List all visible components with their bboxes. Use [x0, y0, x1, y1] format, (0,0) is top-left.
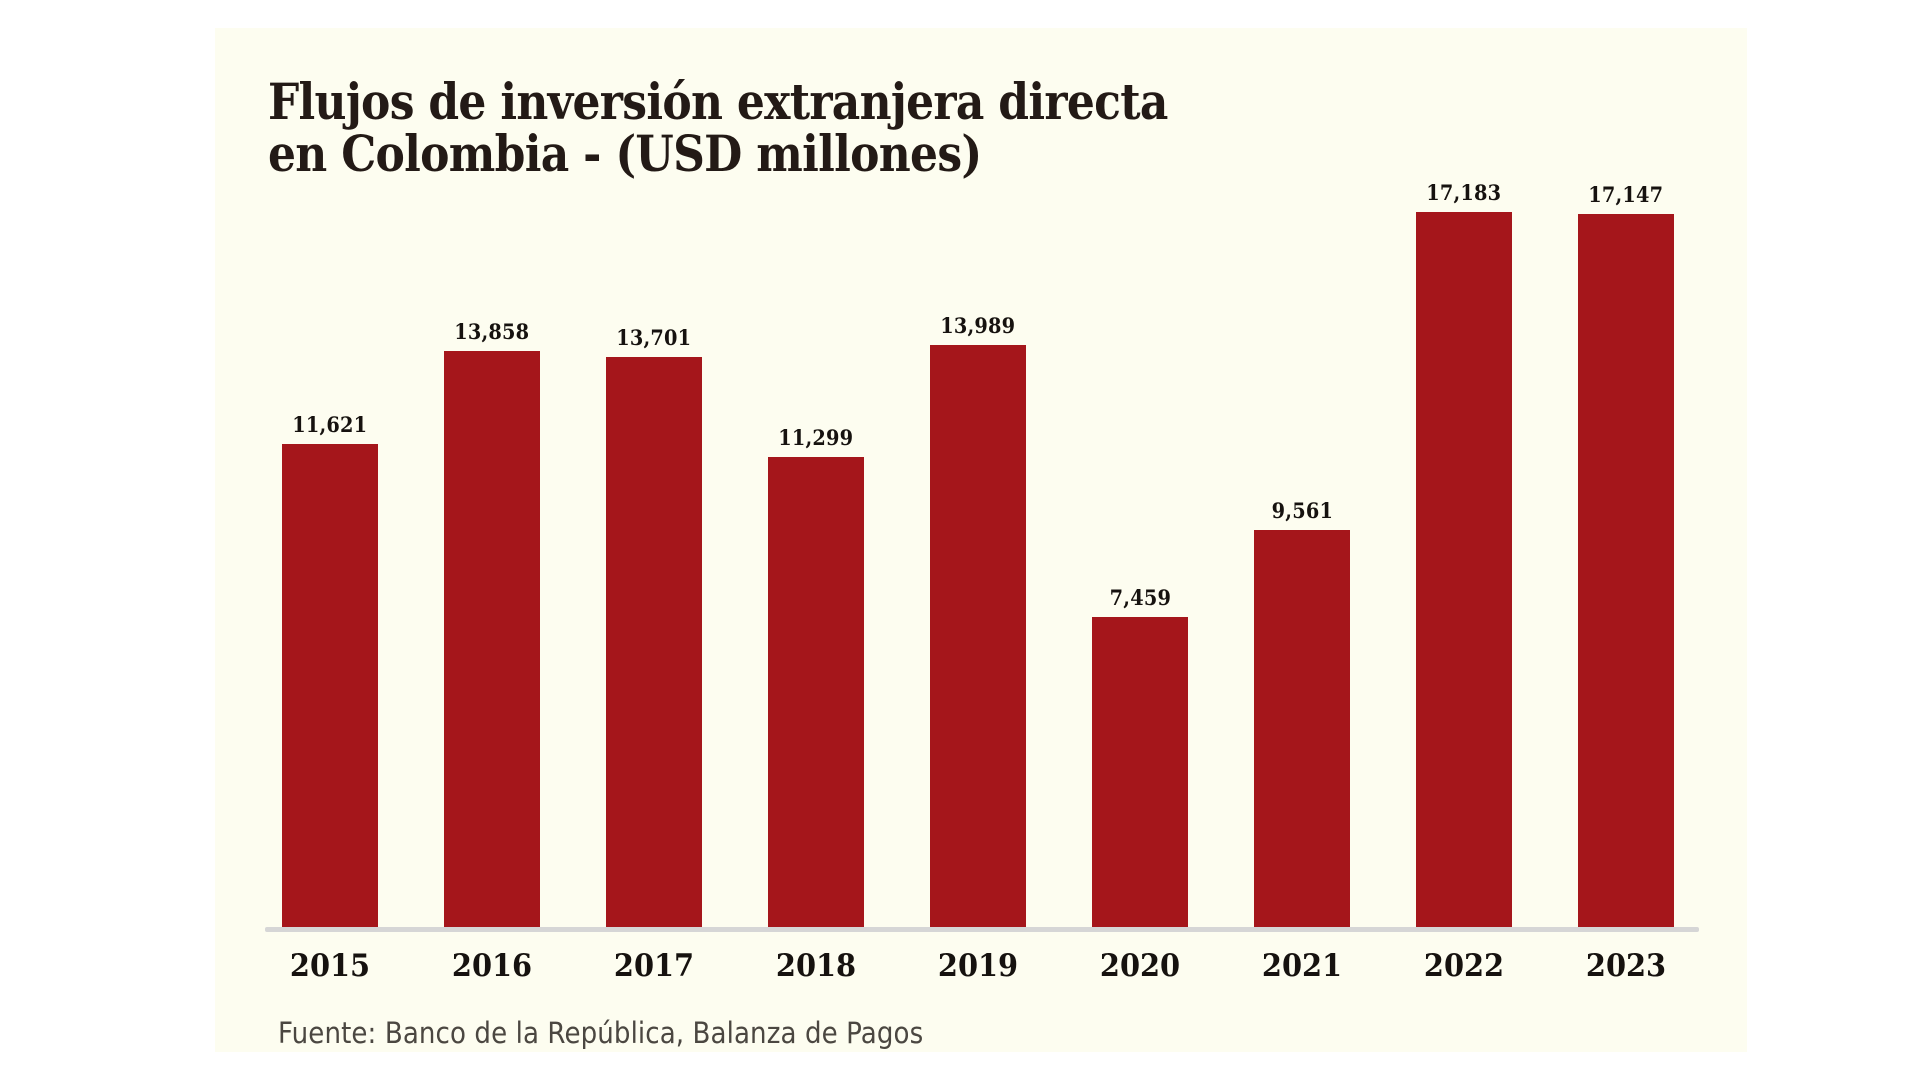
- x-axis-label-2020: 2020: [1095, 948, 1184, 984]
- bar-2017[interactable]: [606, 357, 702, 928]
- x-axis-line: [265, 927, 1699, 932]
- bar-value-label: 13,858: [454, 319, 529, 344]
- bar-group[interactable]: 13,701: [606, 178, 702, 928]
- x-axis-label-2017: 2017: [609, 948, 698, 984]
- bar-group[interactable]: 13,989: [930, 178, 1026, 928]
- source-note: Fuente: Banco de la República, Balanza d…: [278, 1016, 923, 1050]
- x-axis-label-2022: 2022: [1419, 948, 1508, 984]
- bar-value-label: 11,621: [292, 412, 367, 437]
- x-axis-label-2018: 2018: [771, 948, 860, 984]
- page-title: Flujos de inversión extranjera directa e…: [268, 76, 1377, 179]
- x-axis-label-2016: 2016: [447, 948, 536, 984]
- plot-area: 11,62113,85813,70111,29913,9897,4599,561…: [268, 178, 1688, 928]
- bars-layer: 11,62113,85813,70111,29913,9897,4599,561…: [268, 178, 1688, 928]
- bar-group[interactable]: 17,147: [1578, 178, 1674, 928]
- bar-value-label: 17,183: [1426, 180, 1501, 205]
- bar-group[interactable]: 7,459: [1092, 178, 1188, 928]
- x-axis-label-2023: 2023: [1581, 948, 1670, 984]
- bar-group[interactable]: 13,858: [444, 178, 540, 928]
- bar-group[interactable]: 11,299: [768, 178, 864, 928]
- bar-value-label: 17,147: [1588, 182, 1663, 207]
- bar-value-label: 13,701: [616, 325, 691, 350]
- bar-2021[interactable]: [1254, 530, 1350, 928]
- bar-group[interactable]: 17,183: [1416, 178, 1512, 928]
- x-axis-label-2021: 2021: [1257, 948, 1346, 984]
- bar-2020[interactable]: [1092, 617, 1188, 928]
- x-axis-label-2015: 2015: [285, 948, 374, 984]
- bar-group[interactable]: 11,621: [282, 178, 378, 928]
- bar-2016[interactable]: [444, 351, 540, 928]
- bar-value-label: 9,561: [1271, 498, 1332, 523]
- x-axis-tick-labels: 201520162017201820192020202120222023: [268, 948, 1688, 984]
- x-axis-label-2019: 2019: [933, 948, 1022, 984]
- bar-2019[interactable]: [930, 345, 1026, 928]
- bar-2022[interactable]: [1416, 212, 1512, 928]
- chart-figure: Flujos de inversión extranjera directa e…: [0, 0, 1920, 1080]
- bar-2015[interactable]: [282, 444, 378, 928]
- bar-2018[interactable]: [768, 457, 864, 928]
- bar-value-label: 11,299: [778, 425, 853, 450]
- bar-group[interactable]: 9,561: [1254, 178, 1350, 928]
- bar-value-label: 13,989: [940, 313, 1015, 338]
- bar-value-label: 7,459: [1109, 585, 1170, 610]
- chart-panel: Flujos de inversión extranjera directa e…: [215, 28, 1747, 1052]
- bar-2023[interactable]: [1578, 214, 1674, 928]
